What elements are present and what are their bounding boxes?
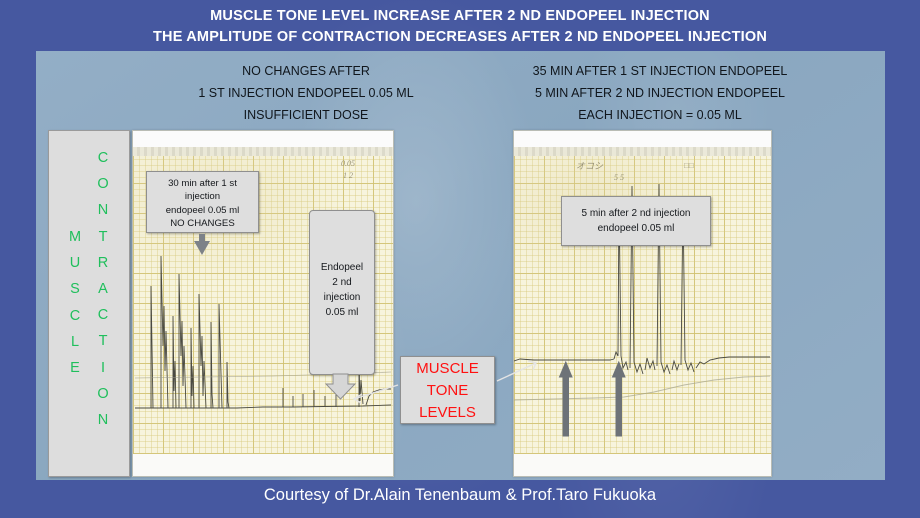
slide-title: MUSCLE TONE LEVEL INCREASE AFTER 2 ND EN… [0,6,920,48]
callout-right-note: 5 min after 2 nd injection endopeel 0.05… [561,196,711,246]
left-caption-line-2: 1 ST INJECTION ENDOPEEL 0.05 ML [156,82,456,104]
muscle-tone-line-3: LEVELS [401,402,494,424]
callout-right-line-2: endopeel 0.05 ml [562,221,710,236]
vertical-letter: C [62,303,88,329]
vertical-label-contraction: CONTRACTION [90,145,116,433]
vertical-letter: U [62,250,88,276]
vertical-letter: O [90,171,116,197]
callout-left-line-1: 30 min after 1 st [147,177,258,190]
paper-top-margin-right [514,131,771,147]
right-caption-line-2: 5 MIN AFTER 2 ND INJECTION ENDOPEEL [480,82,840,104]
muscle-contraction-axis-label-box: MUSCLE CONTRACTION [48,130,130,477]
callout-endopeel-line-1: Endopeel [310,260,374,275]
title-line-1: MUSCLE TONE LEVEL INCREASE AFTER 2 ND EN… [0,6,920,27]
vertical-letter: L [62,329,88,355]
handwriting-right-1: オコシ [576,159,603,172]
paper-bottom-margin-left [133,454,393,476]
vertical-letter: I [90,355,116,381]
right-caption-line-3: EACH INJECTION = 0.05 ML [480,104,840,126]
callout-endopeel-line-3: injection [310,290,374,305]
vertical-letter: O [90,381,116,407]
vertical-label-muscle: MUSCLE [62,224,88,381]
callout-endopeel-line-4: 0.05 ml [310,305,374,320]
paper-perforation-top-left [133,147,393,156]
emg-chart-right: オコシ 5 5 □□ [513,130,772,477]
callout-left-line-4: NO CHANGES [147,217,258,230]
paper-perforation-top-right [514,147,771,156]
left-caption-line-3: INSUFFICIENT DOSE [156,104,456,126]
handwriting-left-1: 0.05 [341,159,355,168]
handwriting-left-2: 1 2 [343,171,353,180]
paper-top-margin-left [133,131,393,147]
callout-left-line-3: endopeel 0.05 ml [147,204,258,217]
muscle-tone-levels-label: MUSCLE TONE LEVELS [400,356,495,424]
left-caption-line-1: NO CHANGES AFTER [156,60,456,82]
injection-arrow-2 [613,362,626,436]
muscle-tone-line-1: MUSCLE [401,358,494,380]
vertical-letter: C [90,145,116,171]
vertical-letter: T [90,224,116,250]
vertical-letter: S [62,276,88,302]
callout-right-line-1: 5 min after 2 nd injection [562,206,710,221]
callout-endopeel-line-2: 2 nd [310,275,374,290]
left-panel-caption: NO CHANGES AFTER 1 ST INJECTION ENDOPEEL… [156,60,456,126]
vertical-letter: C [90,302,116,328]
vertical-letter: T [90,328,116,354]
vertical-letter: A [90,276,116,302]
vertical-letter: M [62,224,88,250]
vertical-letter: N [90,407,116,433]
vertical-letter: N [90,197,116,223]
vertical-letter: R [90,250,116,276]
title-line-2: THE AMPLITUDE OF CONTRACTION DECREASES A… [0,27,920,48]
muscle-tone-line-2: TONE [401,380,494,402]
right-caption-line-1: 35 MIN AFTER 1 ST INJECTION ENDOPEEL [480,60,840,82]
callout-left-note: 30 min after 1 st injection endopeel 0.0… [146,171,259,233]
vertical-letter: E [62,355,88,381]
handwriting-right-2: 5 5 [614,173,624,182]
callout-left-line-2: injection [147,190,258,203]
right-panel-caption: 35 MIN AFTER 1 ST INJECTION ENDOPEEL 5 M… [480,60,840,126]
content-panel: NO CHANGES AFTER 1 ST INJECTION ENDOPEEL… [36,51,885,480]
callout-endopeel-second-injection: Endopeel 2 nd injection 0.05 ml [309,210,375,375]
footer-credit: Courtesy of Dr.Alain Tenenbaum & Prof.Ta… [0,486,920,505]
handwriting-right-3: □□ [684,161,694,170]
paper-bottom-margin-right [514,454,771,476]
